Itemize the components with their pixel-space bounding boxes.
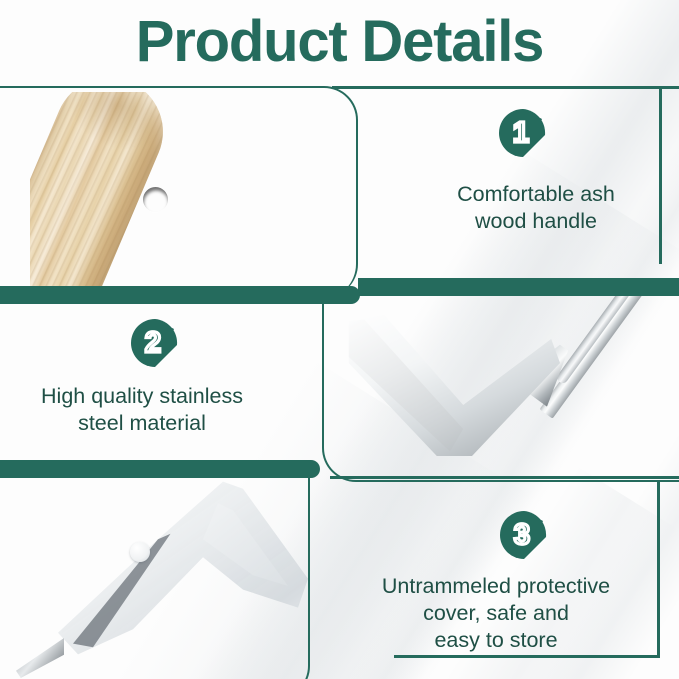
- feature-3-text: Untrammeled protective cover, safe and e…: [348, 573, 644, 654]
- panel-4-top-accent-bar: [0, 286, 360, 304]
- panel-6-bottom-border: [394, 655, 660, 658]
- feature-2-badge: 2: [129, 317, 181, 369]
- feature-2-number: 2: [145, 327, 161, 359]
- panel-6-top-border: [330, 476, 679, 479]
- feature-2-text: High quality stainless steel material: [0, 383, 292, 437]
- panel-3-frame: [322, 292, 679, 482]
- feature-1-text: Comfortable ash wood handle: [396, 181, 676, 235]
- panel-2-right-border: [659, 86, 662, 264]
- feature-1-number: 1: [513, 117, 529, 149]
- panel-5-frame: [0, 470, 310, 679]
- page-title: Product Details: [0, 6, 679, 78]
- product-details-infographic: Product Details 1 Comfortable ash wood h…: [0, 0, 679, 679]
- panel-6-right-border: [657, 482, 660, 658]
- feature-1-badge: 1: [497, 107, 549, 159]
- feature-3-number: 3: [514, 519, 530, 551]
- panel-2-top-border: [332, 86, 679, 89]
- panel-1-frame: [0, 86, 358, 298]
- feature-3-badge: 3: [498, 509, 550, 561]
